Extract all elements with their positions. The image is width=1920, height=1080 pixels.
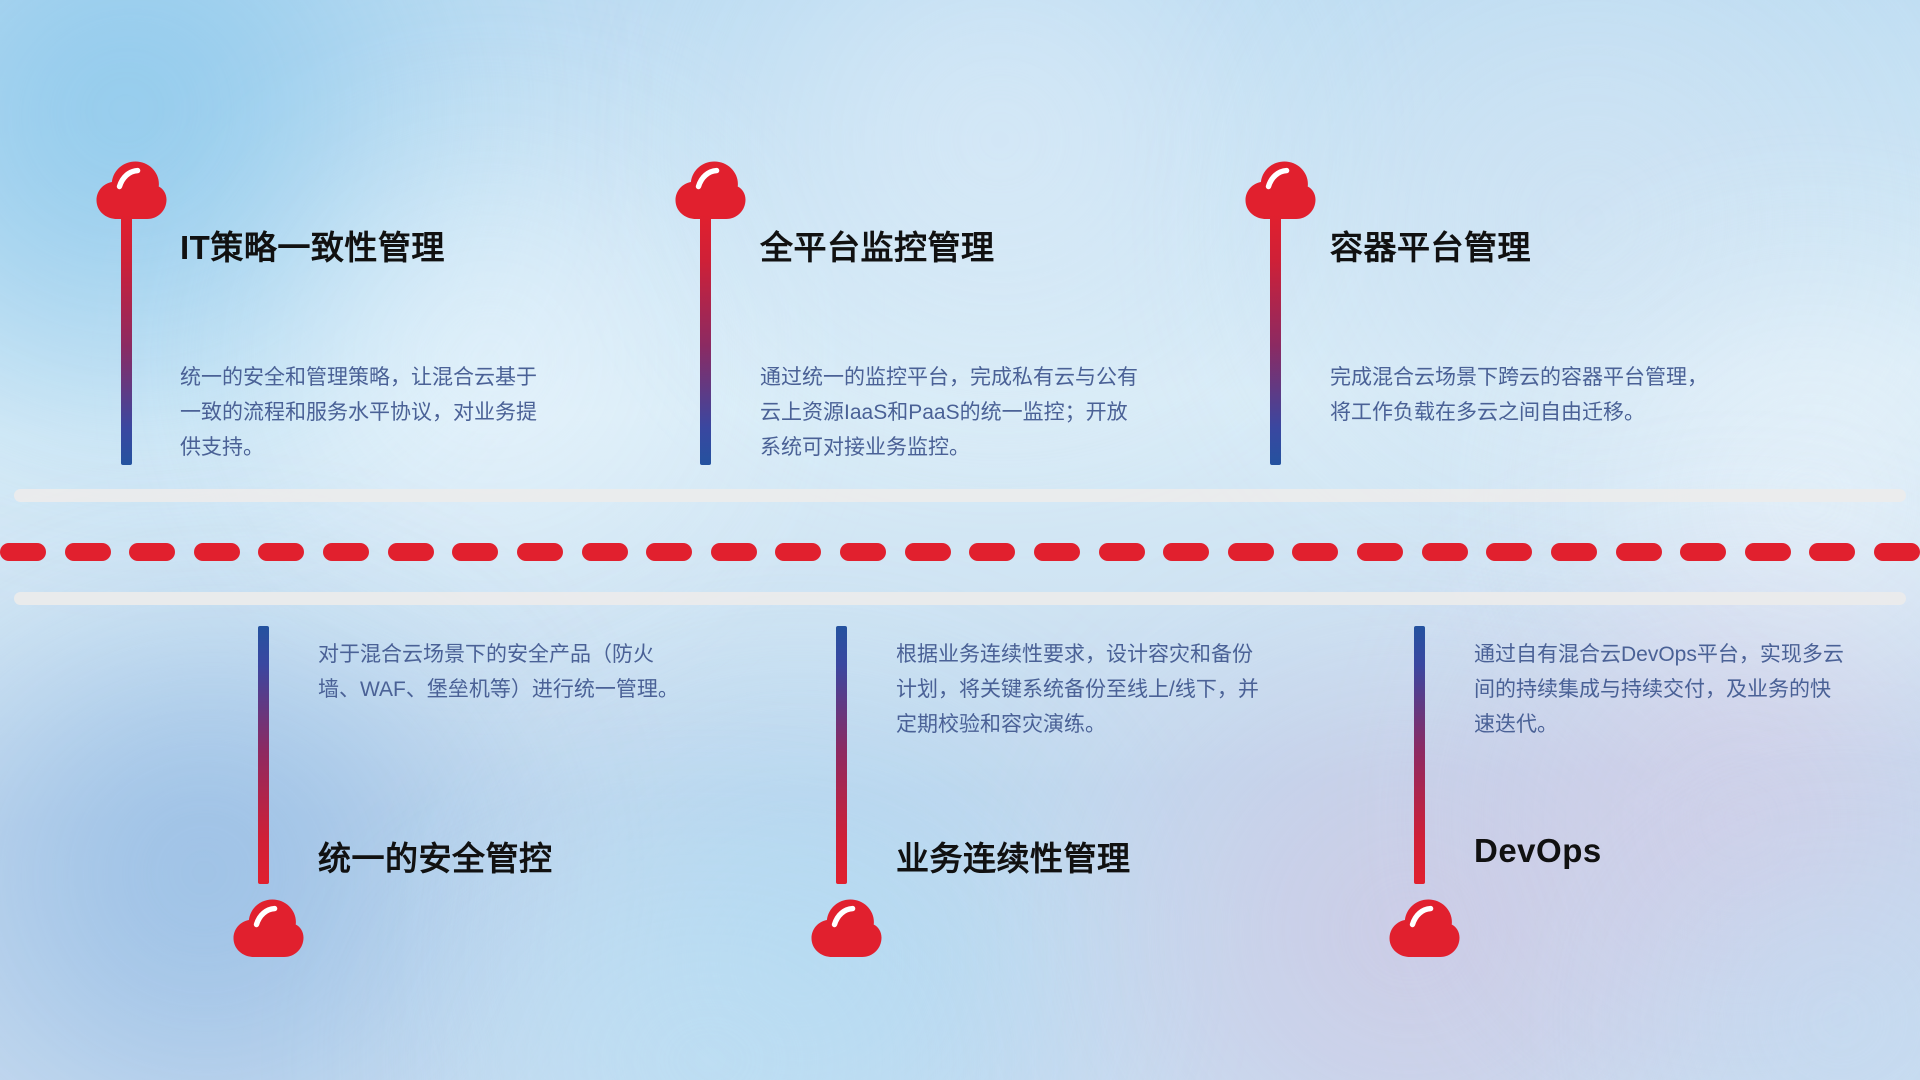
divider-dash <box>1034 543 1080 561</box>
divider-dash <box>258 543 304 561</box>
divider-dash <box>1228 543 1274 561</box>
divider-dash <box>711 543 757 561</box>
item-title: DevOps <box>1474 832 1602 870</box>
divider-dash <box>0 543 46 561</box>
divider-dash <box>1357 543 1403 561</box>
divider-dash <box>1099 543 1145 561</box>
item-title: 全平台监控管理 <box>760 221 995 269</box>
divider-dash <box>1551 543 1597 561</box>
divider-dashed-center <box>0 543 1920 561</box>
divider-dash <box>1874 543 1920 561</box>
divider-dash <box>1292 543 1338 561</box>
item-description: 根据业务连续性要求，设计容灾和备份计划，将关键系统备份至线上/线下，并定期校验和… <box>896 637 1266 742</box>
item-title: 业务连续性管理 <box>896 832 1131 880</box>
cloud-icon <box>232 898 304 965</box>
timeline-stem <box>836 626 847 884</box>
timeline-stem <box>258 626 269 884</box>
divider-dash <box>388 543 434 561</box>
timeline-stem <box>700 215 711 465</box>
item-title: 容器平台管理 <box>1330 221 1531 269</box>
item-description: 统一的安全和管理策略，让混合云基于一致的流程和服务水平协议，对业务提供支持。 <box>180 360 550 465</box>
timeline-stem <box>1414 626 1425 884</box>
timeline-stem <box>121 215 132 465</box>
divider-dash <box>452 543 498 561</box>
divider-dash <box>1616 543 1662 561</box>
divider-dash <box>905 543 951 561</box>
divider-dash <box>1809 543 1855 561</box>
divider-dash <box>194 543 240 561</box>
divider-dash <box>323 543 369 561</box>
infographic-canvas: IT策略一致性管理 统一的安全和管理策略，让混合云基于一致的流程和服务水平协议，… <box>0 0 1920 1080</box>
cloud-icon <box>810 898 882 965</box>
divider-dash <box>646 543 692 561</box>
divider-dash <box>1163 543 1209 561</box>
divider-dash <box>969 543 1015 561</box>
item-description: 通过统一的监控平台，完成私有云与公有云上资源IaaS和PaaS的统一监控；开放系… <box>760 360 1145 465</box>
divider-dash <box>1680 543 1726 561</box>
item-description: 完成混合云场景下跨云的容器平台管理，将工作负载在多云之间自由迁移。 <box>1330 360 1715 430</box>
divider-dash <box>775 543 821 561</box>
divider-dash <box>1422 543 1468 561</box>
divider-solid-bottom <box>14 592 1906 605</box>
item-description: 通过自有混合云DevOps平台，实现多云间的持续集成与持续交付，及业务的快速迭代… <box>1474 637 1844 742</box>
item-title: 统一的安全管控 <box>318 832 553 880</box>
divider-solid-top <box>14 489 1906 502</box>
divider-dash <box>129 543 175 561</box>
item-title: IT策略一致性管理 <box>180 221 445 269</box>
timeline-stem <box>1270 215 1281 465</box>
divider-dash <box>1486 543 1532 561</box>
item-description: 对于混合云场景下的安全产品（防火墙、WAF、堡垒机等）进行统一管理。 <box>318 637 688 707</box>
divider-dash <box>65 543 111 561</box>
cloud-icon <box>1388 898 1460 965</box>
divider-dash <box>517 543 563 561</box>
divider-dash <box>1745 543 1791 561</box>
divider-dash <box>582 543 628 561</box>
divider-dash <box>840 543 886 561</box>
